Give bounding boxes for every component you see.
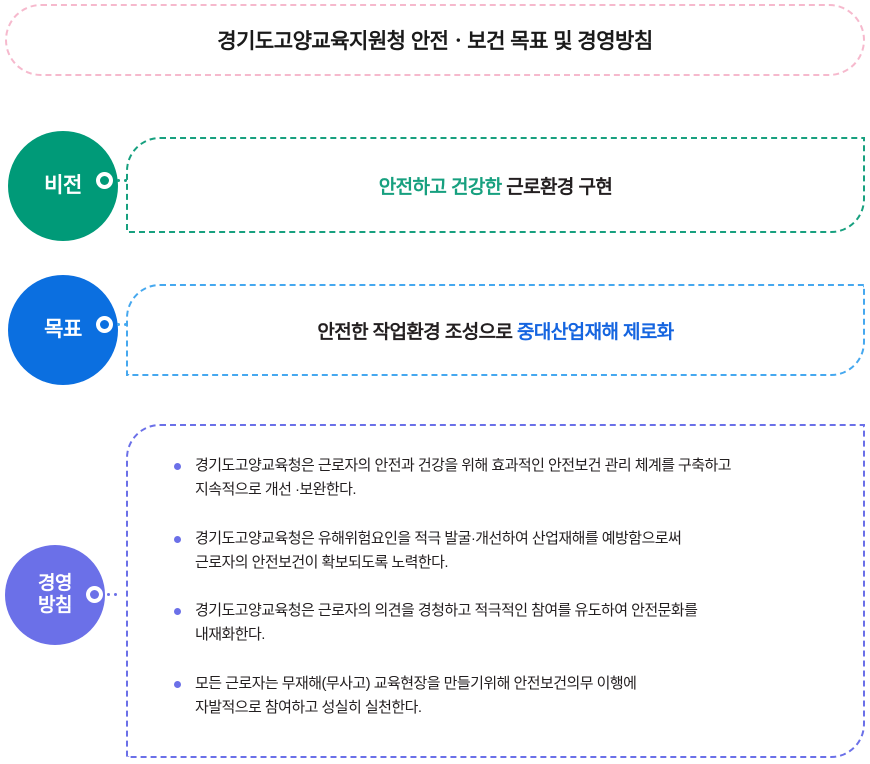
goal-connector	[96, 316, 127, 333]
vision-statement: 안전하고 건강한 근로환경 구현	[379, 172, 612, 199]
page-header-banner: 경기도고양교육지원청 안전ㆍ보건 목표 및 경영방침	[5, 4, 865, 76]
list-item-line: 자발적으로 참여하고 성실히 실천한다.	[195, 696, 833, 720]
list-item-line: 내재화한다.	[195, 623, 833, 647]
bullet-icon	[174, 463, 181, 470]
list-item: 경기도고양교육청은 유해위험요인을 적극 발굴·개선하여 산업재해를 예방함으로…	[172, 527, 833, 576]
list-item-line: 근로자의 안전보건이 확보되도록 노력한다.	[195, 551, 833, 575]
bullet-icon	[174, 536, 181, 543]
list-item-line: 경기도고양교육청은 유해위험요인을 적극 발굴·개선하여 산업재해를 예방함으로…	[195, 527, 833, 551]
goal-section: 목표 안전한 작업환경 조성으로 중대산업재해 제로화	[0, 272, 870, 390]
vision-panel: 안전하고 건강한 근로환경 구현	[126, 137, 865, 233]
vision-connector	[96, 172, 127, 189]
management-policy-panel: 경기도고양교육청은 근로자의 안전과 건강을 위해 효과적인 안전보건 관리 체…	[126, 424, 865, 758]
vision-badge-label: 비전	[44, 174, 82, 199]
bullet-icon	[174, 681, 181, 688]
list-item-line: 경기도고양교육청은 근로자의 의견을 경청하고 적극적인 참여를 유도하여 안전…	[195, 599, 833, 623]
list-item: 경기도고양교육청은 근로자의 의견을 경청하고 적극적인 참여를 유도하여 안전…	[172, 599, 833, 648]
management-policy-list: 경기도고양교육청은 근로자의 안전과 건강을 위해 효과적인 안전보건 관리 체…	[172, 454, 833, 720]
list-item-line: 경기도고양교육청은 근로자의 안전과 건강을 위해 효과적인 안전보건 관리 체…	[195, 454, 833, 478]
vision-connector-node-icon	[96, 172, 113, 189]
management-policy-badge-label-line2: 방침	[38, 595, 72, 617]
goal-statement: 안전한 작업환경 조성으로 중대산업재해 제로화	[317, 317, 673, 344]
list-item-line: 지속적으로 개선 ·보완한다.	[195, 478, 833, 502]
goal-statement-highlight: 중대산업재해 제로화	[517, 322, 674, 343]
vision-statement-rest: 근로환경 구현	[502, 177, 613, 198]
bullet-icon	[174, 608, 181, 615]
management-policy-section: 경영 방침 경기도고양교육청은 근로자의 안전과 건강을 위해 효과적인 안전보…	[0, 424, 870, 760]
page-title: 경기도고양교육지원청 안전ㆍ보건 목표 및 경영방침	[217, 25, 652, 55]
management-policy-connector	[86, 586, 117, 603]
goal-statement-rest: 안전한 작업환경 조성으로	[317, 322, 517, 343]
list-item: 경기도고양교육청은 근로자의 안전과 건강을 위해 효과적인 안전보건 관리 체…	[172, 454, 833, 503]
list-item: 모든 근로자는 무재해(무사고) 교육현장을 만들기위해 안전보건의무 이행에 …	[172, 672, 833, 721]
goal-panel: 안전한 작업환경 조성으로 중대산업재해 제로화	[126, 284, 865, 376]
management-policy-badge-label-line1: 경영	[38, 573, 72, 595]
list-item-line: 모든 근로자는 무재해(무사고) 교육현장을 만들기위해 안전보건의무 이행에	[195, 672, 833, 696]
goal-connector-node-icon	[96, 316, 113, 333]
policy-connector-node-icon	[86, 586, 103, 603]
vision-section: 비전 안전하고 건강한 근로환경 구현	[0, 126, 870, 246]
goal-badge-label: 목표	[44, 318, 82, 343]
vision-statement-highlight: 안전하고 건강한	[379, 177, 502, 198]
